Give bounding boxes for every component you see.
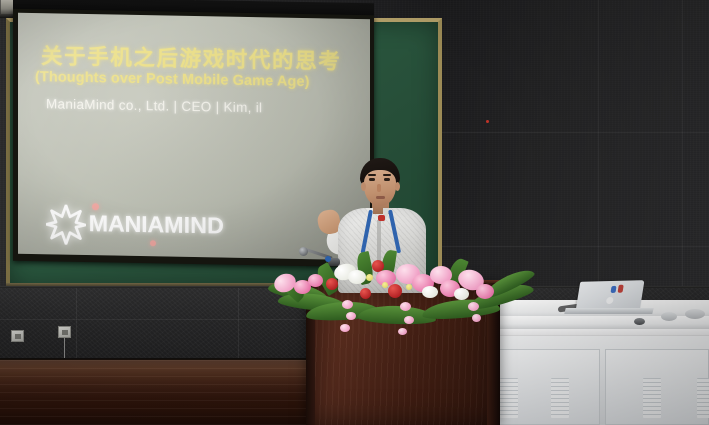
wall-seam	[682, 0, 683, 300]
orchid	[342, 300, 353, 309]
yellow-bud	[406, 284, 412, 290]
cabinet-vent	[551, 378, 569, 418]
red-rose	[326, 278, 338, 290]
eyebrow-right	[383, 174, 391, 176]
power-outlet[interactable]	[58, 326, 71, 338]
mouth	[376, 196, 385, 199]
desk-object[interactable]	[634, 318, 645, 325]
white-lily	[454, 288, 469, 300]
yellow-bud	[366, 274, 373, 281]
orchid	[340, 324, 350, 332]
white-lily	[422, 286, 438, 298]
pink-blossom	[476, 284, 494, 299]
cabinet-vent	[697, 378, 709, 418]
desk-object[interactable]	[661, 312, 677, 321]
orchid	[398, 328, 407, 335]
flower-arrangement	[272, 240, 534, 335]
eye-right	[384, 178, 390, 181]
eye-left	[369, 178, 375, 181]
orchid	[404, 316, 414, 324]
red-rose	[388, 284, 402, 298]
logo-text-mind: MIND	[164, 211, 224, 238]
white-lily	[348, 270, 366, 284]
desk-object[interactable]	[685, 309, 705, 319]
logo-accent-dot	[92, 203, 99, 210]
nose	[377, 184, 381, 192]
slide-subtitle: ManiaMind co., Ltd. | CEO | Kim, il	[46, 96, 262, 115]
laptop-base	[564, 308, 653, 314]
orchid	[400, 302, 411, 311]
wall-marker-dot	[486, 120, 489, 123]
presentation-photo: 关于手机之后游戏时代的思考 (Thoughts over Post Mobile…	[0, 0, 709, 425]
orchid	[346, 312, 356, 320]
laptop-logo	[606, 297, 614, 304]
laptop-sticker	[610, 286, 616, 293]
cabinet-vent	[500, 378, 518, 418]
wall-seam	[598, 0, 599, 300]
ear-right	[395, 182, 400, 191]
wall-seam	[440, 132, 709, 133]
logo-wordmark: MANIAMIND	[89, 210, 224, 239]
badge	[378, 215, 385, 221]
orchid	[468, 302, 479, 311]
eyebrow-left	[368, 174, 376, 176]
maniamind-logo: MANIAMIND	[36, 200, 246, 250]
starburst-icon	[46, 204, 86, 245]
red-rose	[360, 288, 371, 299]
orchid	[472, 314, 481, 322]
pink-blossom	[308, 274, 323, 287]
yellow-bud	[382, 282, 388, 288]
logo-text-mania: MANIA	[89, 210, 164, 237]
power-outlet[interactable]	[11, 330, 24, 342]
outlet-cord	[64, 338, 65, 360]
logo-accent-dot	[150, 240, 156, 246]
ear-left	[361, 182, 366, 191]
laptop-sticker	[618, 285, 624, 293]
cabinet-vent	[643, 378, 661, 418]
